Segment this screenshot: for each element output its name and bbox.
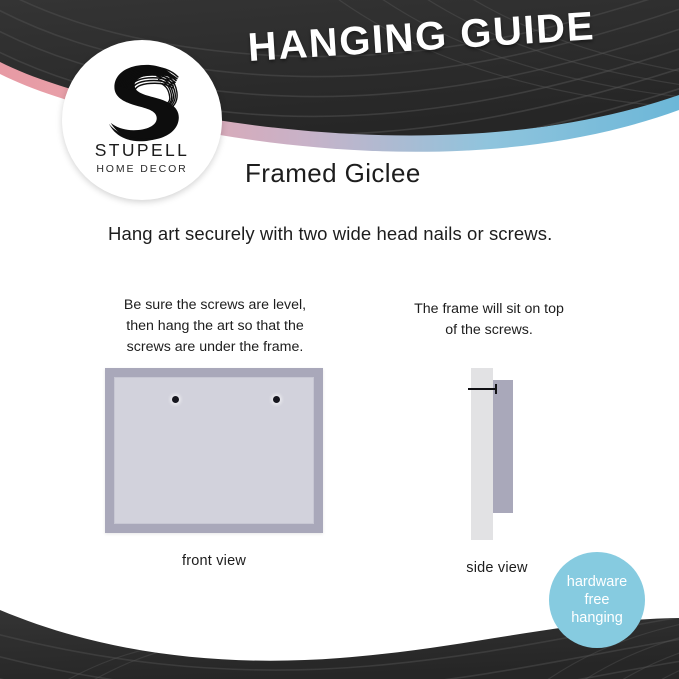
brand-name: STUPELL [62,140,222,161]
front-view-caption-line-3: screws are under the frame. [104,337,326,358]
side-view-frame-illustration [462,365,532,543]
front-view-caption: Be sure the screws are level, then hang … [104,295,326,358]
front-view-caption-line-1: Be sure the screws are level, [104,295,326,316]
intro-instruction: Hang art securely with two wide head nai… [108,223,552,245]
side-view-caption: The frame will sit on top of the screws. [395,299,583,341]
side-view-screw-shaft-icon [468,388,497,390]
front-view-label: front view [105,553,323,569]
brand-tagline: HOME DECOR [62,163,222,175]
side-view-label: side view [432,560,562,576]
front-view-frame-illustration [105,368,323,533]
page-title: HANGING GUIDE [247,4,597,71]
front-view-caption-line-2: then hang the art so that the [104,316,326,337]
badge-line-3: hanging [571,609,623,627]
side-view-screw-head-icon [495,384,497,394]
side-view-caption-line-2: of the screws. [395,320,583,341]
hardware-free-hanging-badge: hardware free hanging [549,552,645,648]
stupell-s-swoosh-logo-icon [96,52,188,144]
side-view-wall [471,368,493,540]
side-view-caption-line-1: The frame will sit on top [395,299,583,320]
side-view-frame-profile [493,380,513,513]
product-type-heading: Framed Giclee [245,158,421,189]
screw-dot-left-icon [172,396,179,403]
front-view-mat-area [114,377,314,524]
brand-logo-badge: STUPELL HOME DECOR [62,40,222,200]
screw-dot-right-icon [273,396,280,403]
badge-line-1: hardware [567,573,627,591]
hanging-guide-page: HANGING GUIDE [0,0,679,679]
badge-line-2: free [585,591,610,609]
